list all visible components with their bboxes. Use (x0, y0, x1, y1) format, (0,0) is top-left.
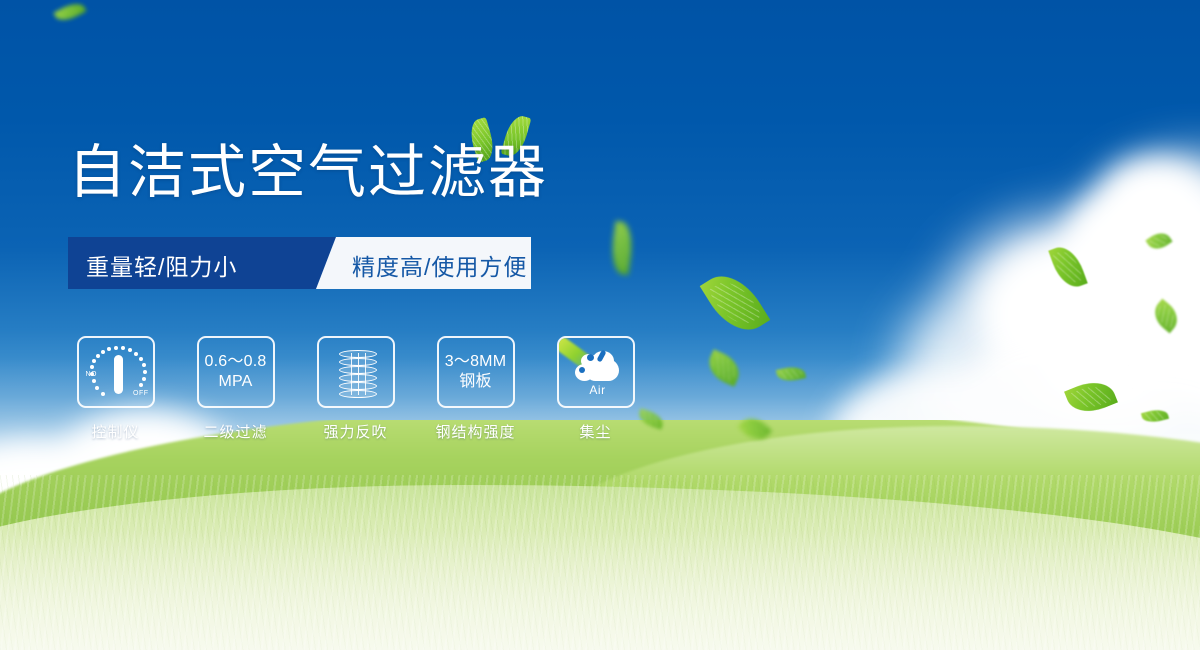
grass-meadow (0, 420, 1200, 650)
floating-leaf (700, 264, 771, 342)
feature-label: 控制仪 (91, 421, 139, 442)
subtitle-right-panel: 精度高/使用方便 (316, 237, 531, 289)
feature-item-blowback[interactable]: 强力反吹 (310, 336, 401, 442)
feature-icon-row: NO OFF 控制仪 0.6～0.8 MPA 二级过滤 (70, 336, 641, 442)
cloud-air-icon-box: Air (557, 336, 635, 408)
control-dial-icon-box: NO OFF (77, 336, 155, 408)
pressure-value-icon-box: 0.6～0.8 MPA (197, 336, 275, 408)
feature-item-steel[interactable]: 3～8MM 钢板 钢结构强度 (430, 336, 521, 442)
page-title: 自洁式空气过滤器 (68, 143, 548, 204)
pressure-value-line1: 0.6～0.8 (205, 352, 267, 372)
coil-blowback-icon (339, 350, 377, 398)
feature-label: 二级过滤 (203, 421, 267, 442)
dial-label-no: NO (86, 371, 98, 378)
product-banner: 自洁式空气过滤器 重量轻/阻力小 精度高/使用方便 (0, 0, 1200, 650)
cloud-air-icon: Air (559, 338, 635, 408)
steel-value-line2: 钢板 (459, 372, 491, 392)
dial-pointer (114, 355, 123, 394)
subtitle-bar: 重量轻/阻力小 精度高/使用方便 (68, 237, 463, 289)
grass-sheen (0, 530, 1200, 650)
subtitle-left-panel: 重量轻/阻力小 (68, 237, 336, 289)
subtitle-right-text: 精度高/使用方便 (352, 248, 527, 282)
feature-label: 集尘 (579, 421, 611, 442)
floating-leaf (53, 0, 86, 25)
pressure-value-line2: MPA (218, 372, 252, 392)
control-dial-icon: NO OFF (79, 338, 155, 408)
air-label: Air (559, 383, 635, 397)
feature-item-control[interactable]: NO OFF 控制仪 (70, 336, 161, 442)
floating-leaf (608, 221, 635, 275)
floating-leaf (703, 349, 745, 387)
feature-item-pressure[interactable]: 0.6～0.8 MPA 二级过滤 (190, 336, 281, 442)
floating-leaf (776, 364, 806, 384)
feature-item-dust[interactable]: Air 集尘 (550, 336, 641, 442)
coil-blowback-icon-box (317, 336, 395, 408)
feature-label: 钢结构强度 (435, 421, 515, 442)
subtitle-left-text: 重量轻/阻力小 (86, 248, 237, 282)
steel-plate-icon-box: 3～8MM 钢板 (437, 336, 515, 408)
steel-value-line1: 3～8MM (445, 352, 506, 372)
feature-label: 强力反吹 (323, 421, 387, 442)
dial-label-off: OFF (133, 390, 149, 397)
